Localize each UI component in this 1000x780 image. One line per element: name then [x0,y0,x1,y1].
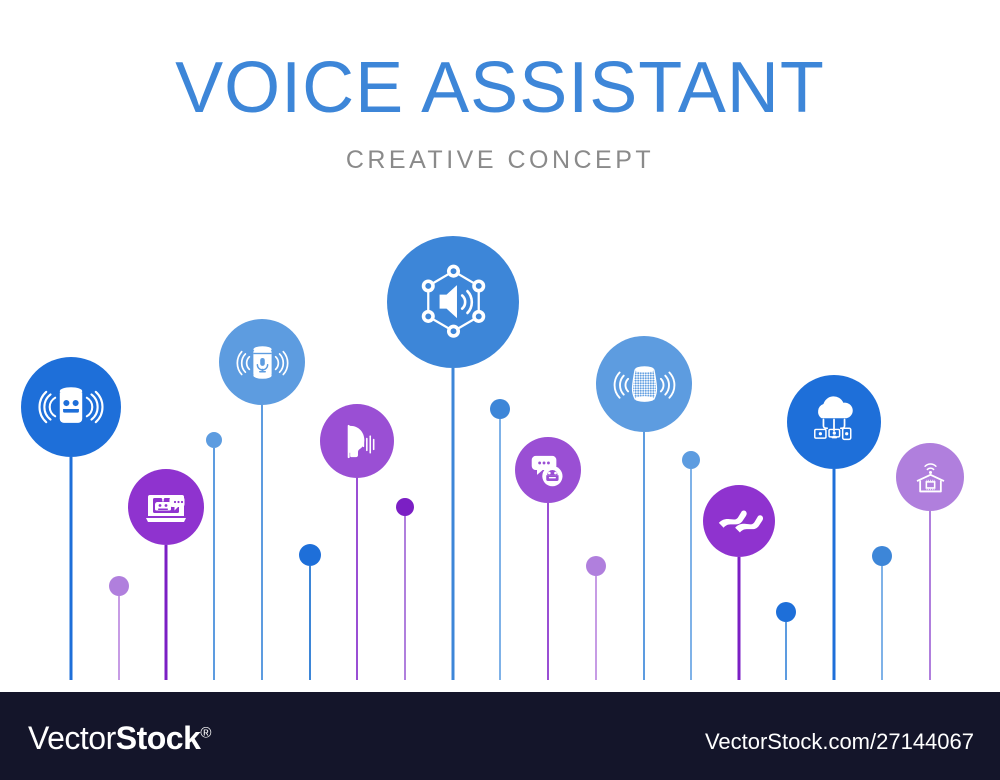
icon-bubble-voice-network-hub[interactable] [387,236,519,368]
stem-line [690,469,692,680]
accent-dot [206,432,222,448]
vectorstock-logo: VectorStock® [28,720,211,757]
stem-line [881,566,883,680]
stem-line [404,516,406,680]
stem-line [499,419,501,680]
hands-gesture-icon [715,497,763,545]
chat-bot-bubble-icon [526,448,570,492]
stem-line [452,368,455,680]
icon-bubble-mesh-speaker[interactable] [596,336,692,432]
brand-name-light: Vector [28,720,116,756]
footer-url: VectorStock.com/27144067 [705,729,974,755]
stem-line [213,448,215,680]
smart-home-icon [908,455,953,500]
icon-bubble-cloud-computing[interactable] [787,375,881,469]
stem-line [738,557,741,680]
accent-dot [396,498,414,516]
stem-line [309,566,311,680]
stem-line [547,503,549,680]
stem-line [165,545,168,680]
cloud-devices-icon [803,391,865,453]
stem-line [261,405,263,680]
icon-bubble-chatbot-laptop[interactable] [128,469,204,545]
stem-line [70,457,73,680]
accent-dot [586,556,606,576]
accent-dot [109,576,129,596]
icon-bubble-smart-home[interactable] [896,443,964,511]
stem-line [643,432,645,680]
stem-line [595,576,597,680]
stem-line [356,478,358,680]
icon-bubble-chat-bubble-bot[interactable] [515,437,581,503]
accent-dot [490,399,510,419]
sound-network-icon [410,259,497,346]
stem-line [118,596,120,680]
accent-dot [299,544,321,566]
speaker-mic-icon [234,334,291,391]
mesh-speaker-icon [613,353,676,416]
icon-bubble-speaker-microphone[interactable] [219,319,305,405]
icon-bubble-hands-gesture[interactable] [703,485,775,557]
smart-speaker-icon [38,374,104,440]
brand-name-bold: Stock [116,720,201,756]
icon-bubble-smart-speaker-waves[interactable] [21,357,121,457]
accent-dot [872,546,892,566]
footer-bar: VectorStock® VectorStock.com/27144067 [0,692,1000,780]
stem-line [785,622,787,680]
accent-dot [776,602,796,622]
stem-line [833,469,836,680]
chatbot-laptop-icon [141,482,191,532]
bubble-chart-area [0,0,1000,690]
voice-recognition-icon [333,417,382,466]
registered-mark-icon: ® [200,724,211,741]
infographic-canvas: VOICE ASSISTANT CREATIVE CONCEPT [0,0,1000,780]
icon-bubble-voice-recognition[interactable] [320,404,394,478]
stem-line [929,511,931,680]
accent-dot [682,451,700,469]
